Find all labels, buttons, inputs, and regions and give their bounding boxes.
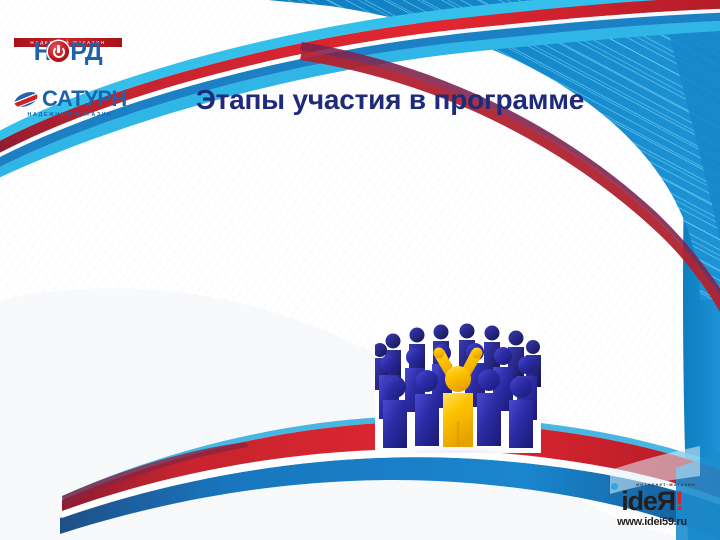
idea-logo: интернет-магазин ideЯ! www.idei59.ru [604, 482, 700, 529]
brand-logo-stack: НОРД НАДЕЖНЫЙ МАГАЗИН САТУРН НАДЕЖНЫЙ МА… [14, 8, 134, 122]
idea-wordmark-text: ideЯ [621, 486, 675, 516]
crowd-photo [375, 317, 541, 453]
saturn-row: САТУРН [14, 88, 126, 110]
idea-wordmark: ideЯ! [604, 488, 700, 515]
page-title: Этапы участия в программе [120, 84, 660, 116]
saturn-wordmark: САТУРН [42, 88, 127, 110]
saturn-ellipse-icon [12, 88, 39, 109]
slide-canvas: НОРД НАДЕЖНЫЙ МАГАЗИН САТУРН НАДЕЖНЫЙ МА… [0, 0, 720, 540]
idea-url: www.idei59.ru [604, 516, 700, 529]
idea-exclamation: ! [675, 486, 683, 516]
saturn-logo: САТУРН НАДЕЖНЫЙ МАГАЗИН [14, 88, 126, 122]
crowd-illustration [375, 317, 541, 453]
nord-logo: НОРД НАДЕЖНЫЙ МАГАЗИН [14, 38, 122, 80]
power-ring-icon [48, 41, 69, 62]
idea-dot-icon [611, 483, 618, 490]
saturn-tagline: НАДЕЖНЫЙ МАГАЗИН [14, 112, 126, 118]
